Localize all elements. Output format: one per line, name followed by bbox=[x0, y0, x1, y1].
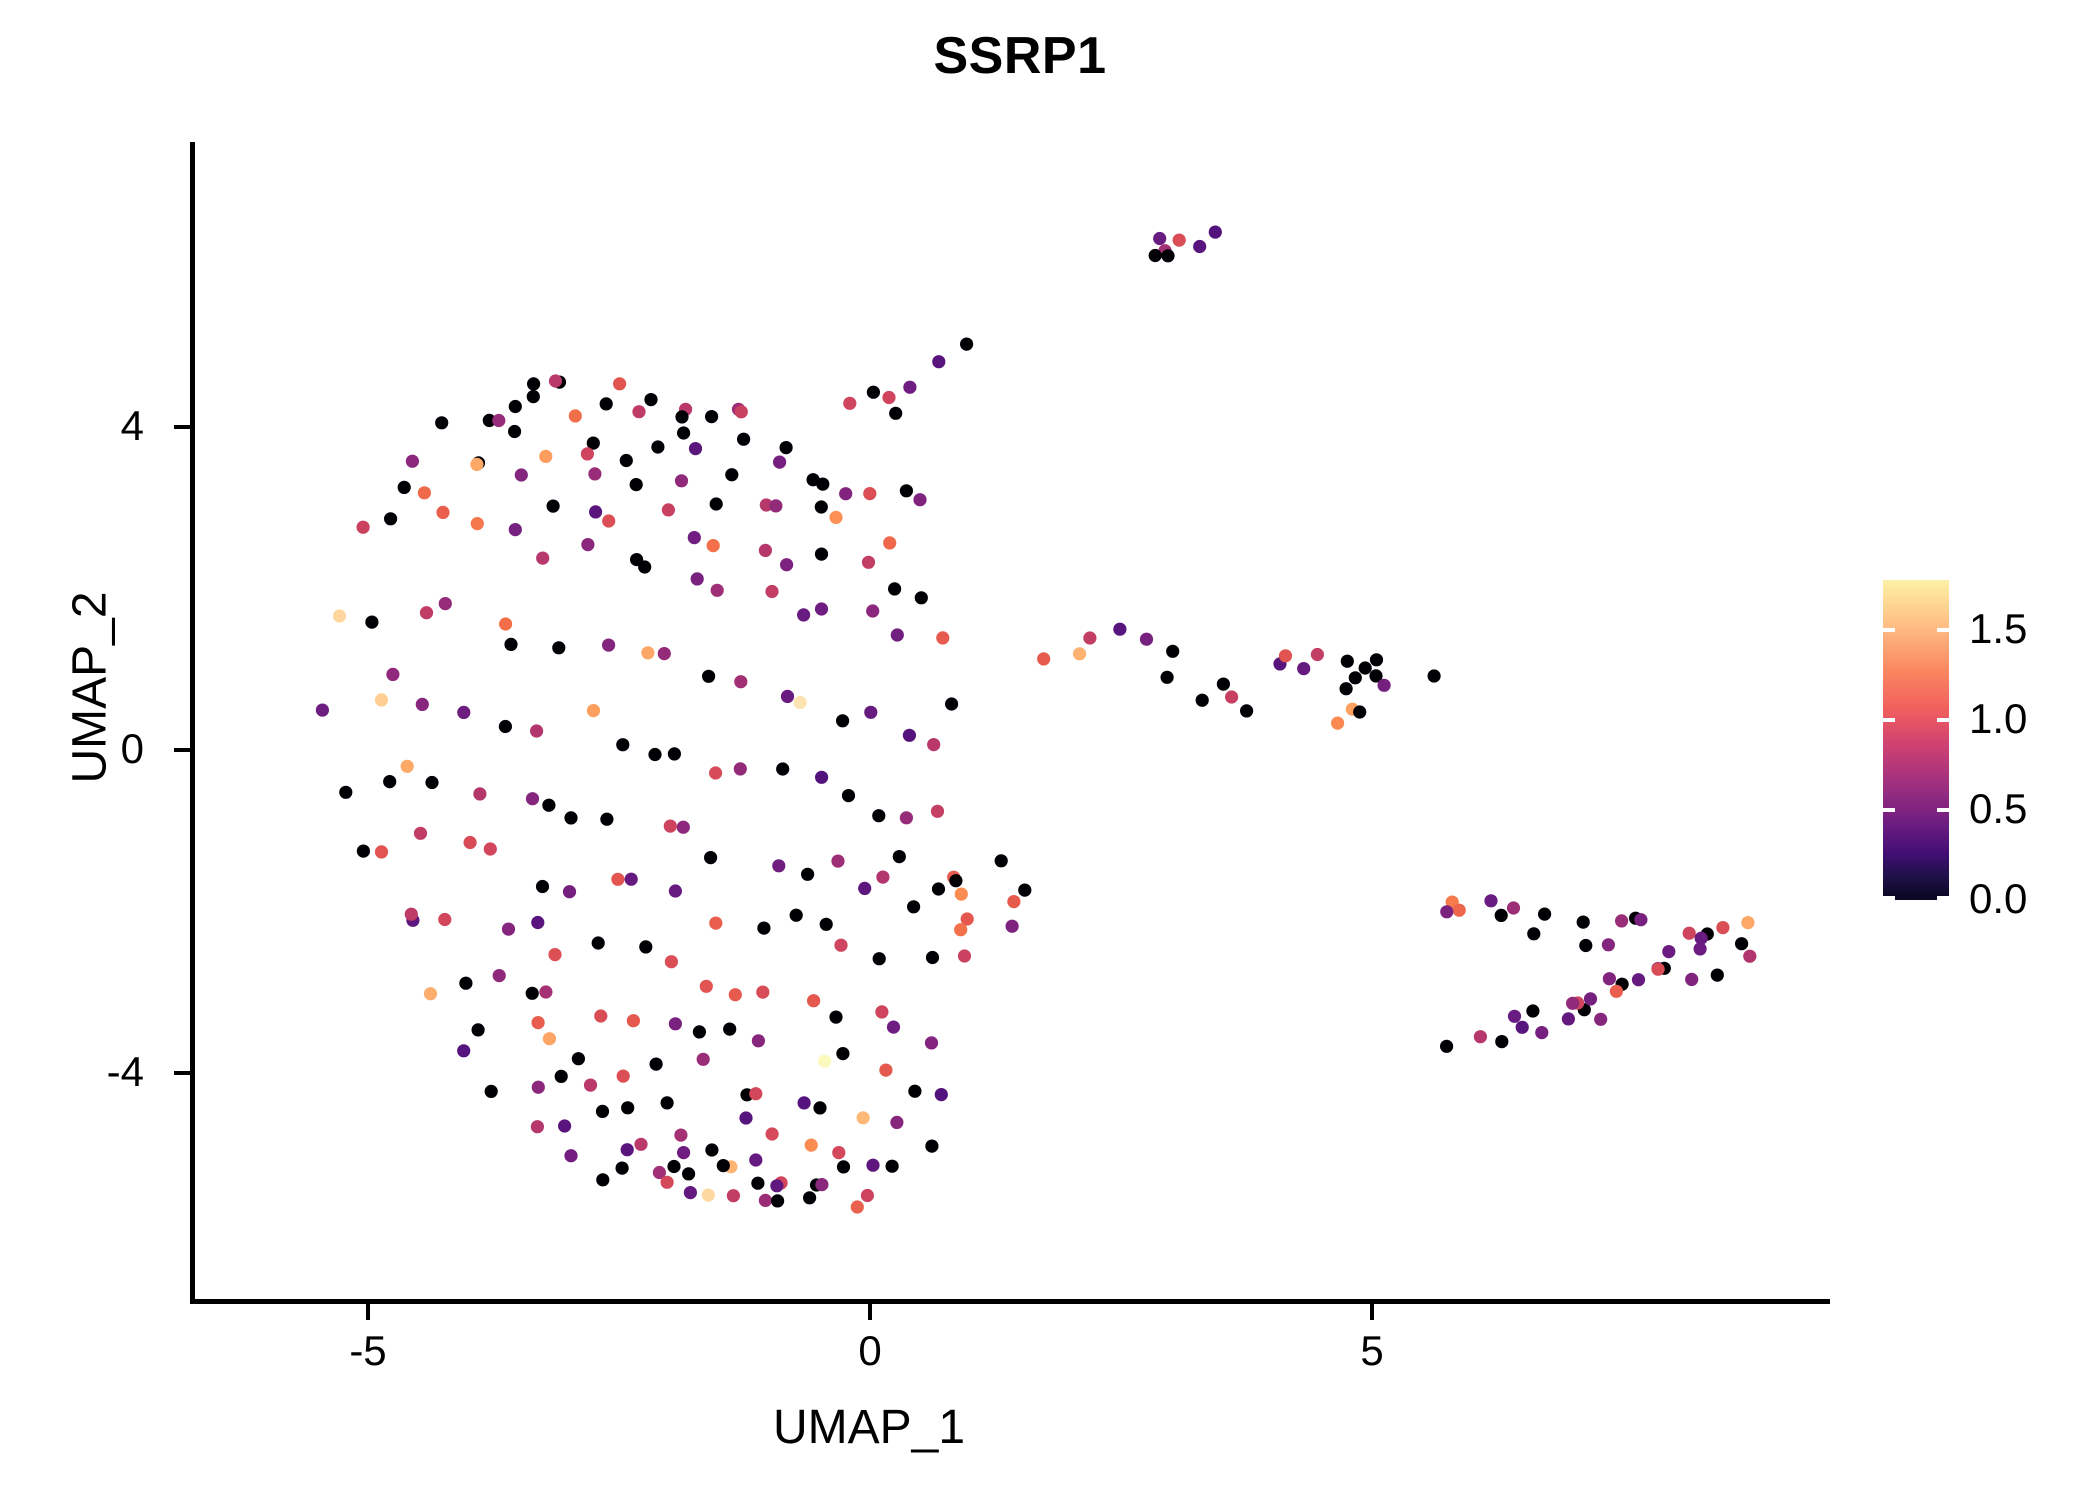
scatter-point bbox=[873, 952, 886, 965]
scatter-point bbox=[669, 884, 682, 897]
scatter-point bbox=[641, 646, 654, 659]
scatter-point bbox=[564, 811, 577, 824]
scatter-point bbox=[843, 397, 856, 410]
scatter-point bbox=[1538, 908, 1551, 921]
scatter-point bbox=[1073, 647, 1086, 660]
scatter-point bbox=[651, 440, 664, 453]
scatter-point bbox=[866, 604, 879, 617]
scatter-point bbox=[661, 1096, 674, 1109]
scatter-point bbox=[584, 1079, 597, 1092]
scatter-point bbox=[558, 1119, 571, 1132]
scatter-point bbox=[932, 355, 945, 368]
scatter-point bbox=[661, 1176, 674, 1189]
scatter-point bbox=[820, 918, 833, 931]
scatter-point bbox=[563, 885, 576, 898]
scatter-point bbox=[1566, 997, 1579, 1010]
scatter-point bbox=[1037, 652, 1050, 665]
scatter-point bbox=[627, 1014, 640, 1027]
scatter-point bbox=[638, 560, 651, 573]
scatter-point bbox=[915, 591, 928, 604]
scatter-point bbox=[935, 1088, 948, 1101]
scatter-point bbox=[675, 410, 688, 423]
scatter-point bbox=[958, 949, 971, 962]
scatter-point bbox=[1526, 1004, 1539, 1017]
scatter-point bbox=[493, 969, 506, 982]
scatter-point bbox=[639, 940, 652, 953]
scatter-point bbox=[531, 916, 544, 929]
scatter-point bbox=[709, 917, 722, 930]
scatter-point bbox=[836, 714, 849, 727]
scatter-point bbox=[621, 1101, 634, 1114]
scatter-point bbox=[1370, 653, 1383, 666]
scatter-point bbox=[1161, 671, 1174, 684]
scatter-point bbox=[757, 922, 770, 935]
scatter-point bbox=[1225, 690, 1238, 703]
scatter-point bbox=[815, 500, 828, 513]
scatter-point bbox=[644, 393, 657, 406]
scatter-point bbox=[717, 1159, 730, 1172]
scatter-point bbox=[677, 1146, 690, 1159]
scatter-point bbox=[797, 608, 810, 621]
scatter-point bbox=[709, 766, 722, 779]
scatter-point bbox=[600, 397, 613, 410]
scatter-point bbox=[949, 874, 962, 887]
scatter-point bbox=[386, 668, 399, 681]
scatter-point bbox=[1279, 649, 1292, 662]
scatter-point bbox=[600, 813, 613, 826]
scatter-point bbox=[1173, 234, 1186, 247]
scatter-point bbox=[805, 1139, 818, 1152]
scatter-point bbox=[1474, 1030, 1487, 1043]
scatter-point bbox=[1683, 927, 1696, 940]
scatter-point bbox=[504, 638, 517, 651]
scatter-point bbox=[1615, 914, 1628, 927]
scatter-point bbox=[674, 1129, 687, 1142]
scatter-point bbox=[995, 854, 1008, 867]
scatter-point bbox=[438, 913, 451, 926]
scatter-point bbox=[1440, 905, 1453, 918]
scatter-point bbox=[515, 468, 528, 481]
scatter-point bbox=[588, 467, 601, 480]
scatter-point bbox=[375, 693, 388, 706]
scatter-point bbox=[790, 909, 803, 922]
scatter-point bbox=[1634, 913, 1647, 926]
scatter-point bbox=[339, 786, 352, 799]
scatter-point bbox=[527, 390, 540, 403]
scatter-point bbox=[1083, 631, 1096, 644]
scatter-point bbox=[1161, 249, 1174, 262]
scatter-point bbox=[484, 842, 497, 855]
scatter-point bbox=[705, 410, 718, 423]
scatter-point bbox=[405, 908, 418, 921]
scatter-point bbox=[365, 616, 378, 629]
scatter-point bbox=[492, 414, 505, 427]
scatter-point bbox=[457, 1044, 470, 1057]
scatter-point bbox=[1584, 992, 1597, 1005]
scatter-point bbox=[564, 1149, 577, 1162]
scatter-point bbox=[1610, 985, 1623, 998]
scatter-point bbox=[927, 738, 940, 751]
scatter-point bbox=[439, 597, 452, 610]
scatter-point bbox=[539, 985, 552, 998]
scatter-point bbox=[813, 1101, 826, 1114]
scatter-point bbox=[457, 706, 470, 719]
scatter-point bbox=[815, 771, 828, 784]
scatter-point bbox=[1694, 942, 1707, 955]
scatter-point bbox=[581, 538, 594, 551]
scatter-point bbox=[1340, 682, 1353, 695]
scatter-point bbox=[816, 478, 829, 491]
scatter-point bbox=[836, 1047, 849, 1060]
scatter-point bbox=[725, 468, 738, 481]
scatter-point bbox=[1508, 1010, 1521, 1023]
scatter-point bbox=[839, 487, 852, 500]
scatter-point bbox=[406, 455, 419, 468]
scatter-point bbox=[864, 706, 877, 719]
scatter-point bbox=[621, 1143, 634, 1156]
scatter-point bbox=[485, 1085, 498, 1098]
scatter-point bbox=[858, 882, 871, 895]
scatter-point bbox=[887, 1021, 900, 1034]
scatter-point bbox=[425, 776, 438, 789]
scatter-point bbox=[751, 1177, 764, 1190]
scatter-point bbox=[872, 809, 885, 822]
scatter-point bbox=[572, 1052, 585, 1065]
scatter-point bbox=[1297, 662, 1310, 675]
scatter-point bbox=[926, 951, 939, 964]
scatter-point bbox=[536, 552, 549, 565]
scatter-point bbox=[803, 1191, 816, 1204]
scatter-point bbox=[693, 1025, 706, 1038]
scatter-point bbox=[1217, 678, 1230, 691]
scatter-point bbox=[759, 544, 772, 557]
scatter-point bbox=[536, 880, 549, 893]
scatter-point bbox=[876, 871, 889, 884]
scatter-point bbox=[499, 617, 512, 630]
scatter-point bbox=[1711, 969, 1724, 982]
scatter-point bbox=[888, 582, 901, 595]
scatter-point bbox=[723, 1023, 736, 1036]
scatter-point bbox=[616, 1162, 629, 1175]
scatter-point bbox=[650, 1058, 663, 1071]
scatter-point bbox=[1166, 645, 1179, 658]
scatter-point bbox=[357, 845, 370, 858]
scatter-point bbox=[1240, 704, 1253, 717]
scatter-point bbox=[1378, 679, 1391, 692]
scatter-point bbox=[932, 882, 945, 895]
scatter-point bbox=[1359, 661, 1372, 674]
scatter-point bbox=[664, 820, 677, 833]
scatter-point bbox=[549, 374, 562, 387]
scatter-point bbox=[1484, 894, 1497, 907]
scatter-point bbox=[863, 487, 876, 500]
scatter-point bbox=[893, 850, 906, 863]
scatter-point bbox=[459, 977, 472, 990]
scatter-point bbox=[705, 1143, 718, 1156]
scatter-point bbox=[648, 748, 661, 761]
scatter-point bbox=[866, 1159, 879, 1172]
scatter-point bbox=[357, 521, 370, 534]
scatter-point bbox=[1149, 249, 1162, 262]
scatter-point bbox=[890, 1116, 903, 1129]
scatter-point bbox=[420, 606, 433, 619]
scatter-point bbox=[634, 1138, 647, 1151]
scatter-point bbox=[1495, 1035, 1508, 1048]
scatter-point bbox=[398, 481, 411, 494]
colorbar-legend: 1.5 1.0 0.5 0.0 bbox=[1883, 580, 2083, 910]
scatter-point bbox=[1516, 1021, 1529, 1034]
scatter-point bbox=[697, 1053, 710, 1066]
scatter-point bbox=[1535, 1026, 1548, 1039]
scatter-point bbox=[776, 762, 789, 775]
scatter-point bbox=[596, 1173, 609, 1186]
scatter-point bbox=[1652, 963, 1665, 976]
scatter-point bbox=[765, 585, 778, 598]
scatter-point bbox=[435, 416, 448, 429]
scatter-point bbox=[908, 1085, 921, 1098]
scatter-point bbox=[710, 497, 723, 510]
scatter-point bbox=[1440, 1040, 1453, 1053]
scatter-point bbox=[815, 548, 828, 561]
scatter-point bbox=[473, 787, 486, 800]
scatter-point bbox=[727, 1189, 740, 1202]
colorbar-tick-1.0-left bbox=[1883, 718, 1895, 722]
scatter-point bbox=[1209, 226, 1222, 239]
scatter-point bbox=[677, 821, 690, 834]
colorbar-tick-0.0-left bbox=[1883, 896, 1895, 900]
scatter-point bbox=[675, 474, 688, 487]
scatter-point bbox=[862, 556, 875, 569]
colorbar-tick-0.5-right bbox=[1937, 808, 1949, 812]
scatter-point bbox=[711, 584, 724, 597]
scatter-point bbox=[945, 697, 958, 710]
scatter-point bbox=[842, 789, 855, 802]
scatter-point bbox=[749, 1153, 762, 1166]
scatter-point bbox=[471, 517, 484, 530]
scatter-point bbox=[837, 1160, 850, 1173]
scatter-point bbox=[829, 1011, 842, 1024]
scatter-point bbox=[936, 631, 949, 644]
scatter-point bbox=[891, 628, 904, 641]
scatter-point bbox=[913, 493, 926, 506]
scatter-point bbox=[1735, 937, 1748, 950]
scatter-point bbox=[543, 1032, 556, 1045]
scatter-point bbox=[587, 704, 600, 717]
scatter-point bbox=[1603, 972, 1616, 985]
scatter-point bbox=[375, 845, 388, 858]
scatter-point bbox=[499, 720, 512, 733]
scatter-point bbox=[527, 377, 540, 390]
scatter-point bbox=[547, 500, 560, 513]
scatter-point bbox=[592, 936, 605, 949]
scatter-point bbox=[589, 505, 602, 518]
scatter-point bbox=[861, 1189, 874, 1202]
scatter-point bbox=[900, 811, 913, 824]
scatter-point bbox=[739, 1111, 752, 1124]
scatter-point bbox=[669, 1017, 682, 1030]
scatter-point bbox=[414, 827, 427, 840]
scatter-point bbox=[780, 558, 793, 571]
scatter-point bbox=[691, 572, 704, 585]
scatter-point bbox=[882, 391, 895, 404]
scatter-point bbox=[383, 775, 396, 788]
scatter-point bbox=[1562, 1012, 1575, 1025]
scatter-point bbox=[689, 442, 702, 455]
scatter-point bbox=[1662, 945, 1675, 958]
scatter-point bbox=[667, 1160, 680, 1173]
scatter-point bbox=[532, 1081, 545, 1094]
scatter-point bbox=[508, 425, 521, 438]
scatter-point bbox=[831, 855, 844, 868]
scatter-point bbox=[418, 486, 431, 499]
scatter-point bbox=[684, 1186, 697, 1199]
scatter-point bbox=[620, 454, 633, 467]
scatter-point bbox=[931, 805, 944, 818]
colorbar-label-0.5: 0.5 bbox=[1969, 788, 2099, 830]
scatter-point bbox=[502, 923, 515, 936]
scatter-point bbox=[602, 514, 615, 527]
scatter-point bbox=[1331, 717, 1344, 730]
scatter-point bbox=[682, 1167, 695, 1180]
scatter-point bbox=[756, 986, 769, 999]
scatter-point bbox=[771, 1194, 784, 1207]
scatter-point bbox=[766, 1127, 779, 1140]
scatter-point bbox=[879, 1064, 892, 1077]
scatter-point bbox=[1602, 938, 1615, 951]
scatter-point bbox=[1594, 1013, 1607, 1026]
scatter-point bbox=[735, 405, 748, 418]
scatter-point bbox=[333, 609, 346, 622]
scatter-point bbox=[594, 1009, 607, 1022]
scatter-point bbox=[509, 523, 522, 536]
scatter-point bbox=[794, 696, 807, 709]
scatter-point bbox=[759, 1194, 772, 1207]
colorbar-label-1.5: 1.5 bbox=[1969, 608, 2099, 650]
scatter-point bbox=[702, 670, 715, 683]
scatter-point bbox=[616, 738, 629, 751]
scatter-point bbox=[1632, 973, 1645, 986]
scatter-point bbox=[596, 1105, 609, 1118]
scatter-point bbox=[548, 948, 561, 961]
scatter-point bbox=[1113, 623, 1126, 636]
scatter-point bbox=[807, 994, 820, 1007]
scatter-point bbox=[668, 747, 681, 760]
scatter-point bbox=[734, 675, 747, 688]
scatter-point bbox=[781, 690, 794, 703]
scatter-point bbox=[1507, 901, 1520, 914]
scatter-point bbox=[1311, 648, 1324, 661]
scatter-point bbox=[707, 539, 720, 552]
scatter-point bbox=[532, 1016, 545, 1029]
scatter-point bbox=[1007, 895, 1020, 908]
scatter-point bbox=[1743, 950, 1756, 963]
scatter-point bbox=[569, 409, 582, 422]
scatter-point bbox=[470, 458, 483, 471]
colorbar-tick-1.5-left bbox=[1883, 628, 1895, 632]
scatter-point bbox=[632, 405, 645, 418]
scatter-point bbox=[772, 859, 785, 872]
scatter-point bbox=[780, 441, 793, 454]
scatter-point bbox=[658, 647, 671, 660]
colorbar-label-0.0: 0.0 bbox=[1969, 878, 2099, 920]
scatter-point bbox=[734, 762, 747, 775]
scatter-point bbox=[401, 760, 414, 773]
scatter-point bbox=[875, 1005, 888, 1018]
scatter-point bbox=[834, 939, 847, 952]
scatter-point bbox=[960, 338, 973, 351]
scatter-point bbox=[798, 1096, 811, 1109]
scatter-point bbox=[1579, 939, 1592, 952]
scatter-point bbox=[688, 531, 701, 544]
scatter-point bbox=[613, 377, 626, 390]
scatter-point bbox=[617, 1070, 630, 1083]
scatter-point bbox=[555, 1070, 568, 1083]
scatter-point bbox=[925, 1140, 938, 1153]
scatter-point bbox=[1349, 671, 1362, 684]
umap-feature-plot: SSRP1 4 0 -4 -5 0 5 UMAP_1 UMAP_2 1.5 1.… bbox=[0, 0, 2100, 1500]
scatter-point bbox=[677, 426, 690, 439]
scatter-point bbox=[752, 1034, 765, 1047]
scatter-point bbox=[867, 386, 880, 399]
scatter-point bbox=[1453, 904, 1466, 917]
scatter-point bbox=[464, 836, 477, 849]
scatter-point bbox=[954, 923, 967, 936]
scatter-point bbox=[416, 698, 429, 711]
scatter-point bbox=[1153, 232, 1166, 245]
scatter-point bbox=[611, 873, 624, 886]
scatter-point bbox=[903, 381, 916, 394]
colorbar-tick-1.0-right bbox=[1937, 718, 1949, 722]
scatter-point bbox=[907, 900, 920, 913]
scatter-point bbox=[1741, 916, 1754, 929]
scatter-point bbox=[1716, 921, 1729, 934]
scatter-point bbox=[1685, 973, 1698, 986]
scatter-point bbox=[704, 851, 717, 864]
scatter-point bbox=[886, 1160, 899, 1173]
colorbar-tick-0.5-left bbox=[1883, 808, 1895, 812]
scatter-points-layer bbox=[0, 0, 2100, 1500]
scatter-point bbox=[531, 1120, 544, 1133]
scatter-point bbox=[903, 729, 916, 742]
scatter-point bbox=[526, 987, 539, 1000]
scatter-point bbox=[472, 1023, 485, 1036]
scatter-point bbox=[509, 400, 522, 413]
colorbar-tick-1.5-right bbox=[1937, 628, 1949, 632]
scatter-point bbox=[1193, 240, 1206, 253]
scatter-point bbox=[1527, 927, 1540, 940]
scatter-point bbox=[316, 704, 329, 717]
scatter-point bbox=[773, 456, 786, 469]
scatter-point bbox=[526, 792, 539, 805]
scatter-point bbox=[539, 450, 552, 463]
scatter-point bbox=[818, 1055, 831, 1068]
scatter-point bbox=[737, 433, 750, 446]
scatter-point bbox=[702, 1189, 715, 1202]
scatter-point bbox=[883, 536, 896, 549]
scatter-point bbox=[729, 988, 742, 1001]
scatter-point bbox=[662, 503, 675, 516]
scatter-point bbox=[770, 1179, 783, 1192]
scatter-point bbox=[700, 980, 713, 993]
colorbar-tick-0.0-right bbox=[1937, 896, 1949, 900]
scatter-point bbox=[602, 639, 615, 652]
scatter-point bbox=[925, 1036, 938, 1049]
scatter-point bbox=[1341, 655, 1354, 668]
scatter-point bbox=[769, 499, 782, 512]
scatter-point bbox=[829, 511, 842, 524]
scatter-point bbox=[436, 506, 449, 519]
scatter-point bbox=[889, 407, 902, 420]
